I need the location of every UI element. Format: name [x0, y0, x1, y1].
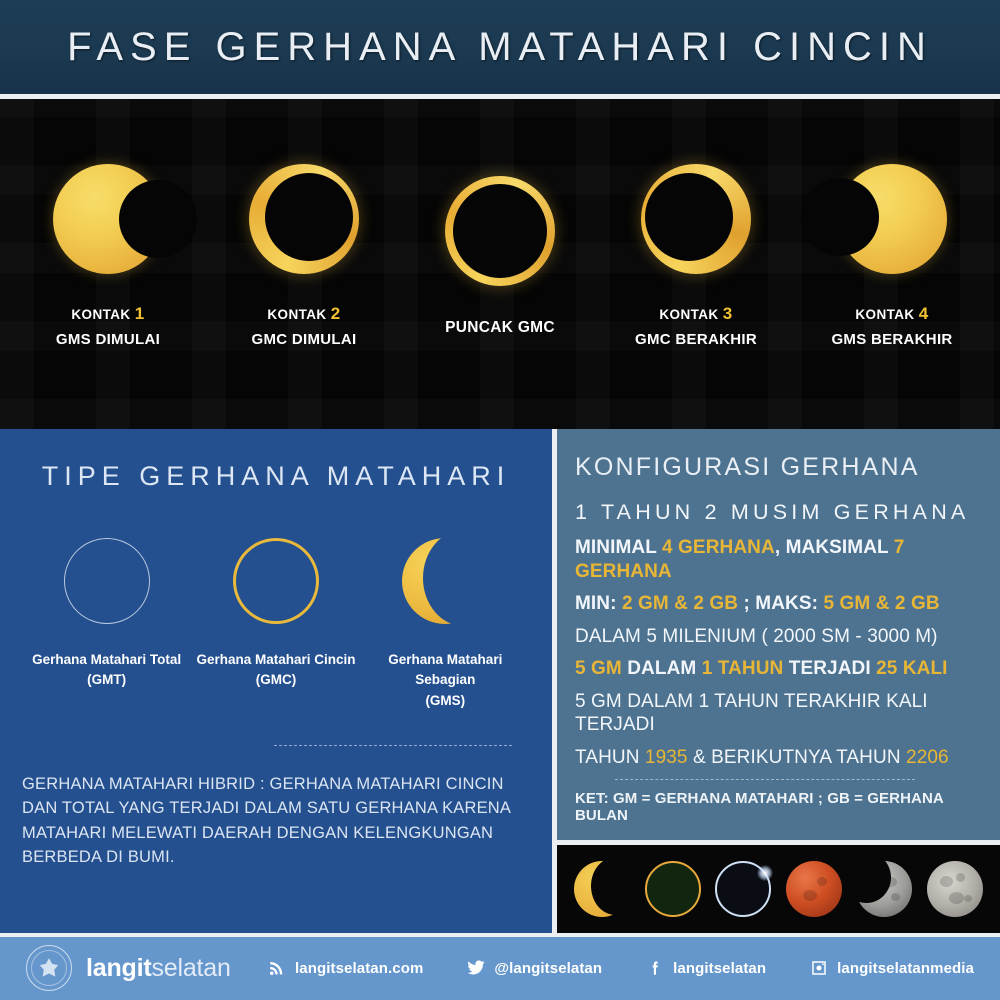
- sun-annular-ring-icon: [641, 164, 751, 274]
- diamond-ring-eclipse-photo: [715, 861, 771, 917]
- social-text: @langitselatan: [494, 960, 602, 977]
- phase-sub-label: PUNCAK GMC: [445, 317, 555, 339]
- phase-kontak-line: KONTAK 2: [252, 302, 357, 326]
- hybrid-eclipse-text: GERHANA MATAHARI HIBRID : GERHANA MATAHA…: [22, 772, 530, 870]
- config-column: KONFIGURASI GERHANA 1 TAHUN 2 MUSIM GERH…: [557, 429, 1000, 932]
- social-text: langitselatan: [673, 960, 766, 977]
- types-row: Gerhana Matahari Total (GMT) Gerhana Mat…: [22, 538, 530, 711]
- phase-kontak-line: KONTAK 1: [56, 302, 160, 326]
- kontak-number: 1: [135, 304, 145, 323]
- kontak-label: KONTAK: [659, 307, 718, 322]
- facebook-icon: [646, 959, 664, 977]
- phase-sub-label: GMC DIMULAI: [252, 329, 357, 350]
- social-text: langitselatanmedia: [837, 960, 974, 977]
- crescent-eclipse-photo: [574, 861, 630, 917]
- instagram-icon: [810, 959, 828, 977]
- phase-item: KONTAK 4 GMS BERAKHIR: [802, 164, 982, 350]
- phase-sub-label: GMC BERAKHIR: [635, 329, 757, 350]
- config-line-5gm: 5 GM DALAM 1 TAHUN TERJADI 25 KALI: [575, 657, 984, 681]
- sun-partial-bite-left-icon: [837, 164, 947, 274]
- type-item-label: Gerhana Matahari Cincin (GMC): [196, 650, 355, 691]
- kontak-label: KONTAK: [71, 307, 130, 322]
- type-item-total: Gerhana Matahari Total (GMT): [24, 538, 189, 691]
- config-line-milenium: DALAM 5 MILENIUM ( 2000 SM - 3000 M): [575, 625, 984, 649]
- phase-item: KONTAK 2 GMC DIMULAI: [214, 164, 394, 350]
- header-bar: FASE GERHANA MATAHARI CINCIN: [0, 0, 1000, 99]
- kontak-label: KONTAK: [267, 307, 326, 322]
- eclipse-phases-section: KONTAK 1 GMS DIMULAI KONTAK 2 GMC DIMULA…: [0, 99, 1000, 429]
- social-link-facebook[interactable]: langitselatan: [646, 959, 766, 977]
- phase-item: KONTAK 1 GMS DIMULAI: [18, 164, 198, 350]
- eclipse-configuration-panel: KONFIGURASI GERHANA 1 TAHUN 2 MUSIM GERH…: [557, 429, 1000, 839]
- page-title: FASE GERHANA MATAHARI CINCIN: [67, 25, 933, 70]
- phase-sub-label: GMS BERAKHIR: [831, 329, 952, 350]
- phase-sub-label: GMS DIMULAI: [56, 329, 160, 350]
- type-item-partial: Gerhana Matahari Sebagian (GMS): [363, 538, 528, 711]
- config-panel-title: KONFIGURASI GERHANA: [575, 453, 984, 482]
- kontak-number: 4: [919, 304, 929, 323]
- type-item-label: Gerhana Matahari Total (GMT): [32, 650, 181, 691]
- social-links: langitselatan.com @langitselatan langits…: [268, 959, 974, 977]
- config-line-last-b: TAHUN 1935 & BERIKUTNYA TAHUN 2206: [575, 746, 984, 770]
- eclipse-partial-crescent-icon: [402, 538, 488, 624]
- sun-partial-bite-right-icon: [53, 164, 163, 274]
- eclipse-annular-ring-icon: [233, 538, 319, 624]
- kontak-label: KONTAK: [855, 307, 914, 322]
- phase-item: KONTAK 3 GMC BERAKHIR: [606, 164, 786, 350]
- social-text: langitselatan.com: [295, 960, 423, 977]
- annular-eclipse-photo: [645, 861, 701, 917]
- config-line-last-a: 5 GM DALAM 1 TAHUN TERAKHIR KALI TERJADI: [575, 690, 984, 737]
- sun-annular-ring-centered-icon: [445, 176, 555, 286]
- phase-item: PUNCAK GMC: [410, 176, 590, 339]
- eclipse-photo-strip: [557, 845, 1000, 933]
- config-line-season: 1 TAHUN 2 MUSIM GERHANA: [575, 500, 984, 525]
- kontak-number: 2: [331, 304, 341, 323]
- lower-section: TIPE GERHANA MATAHARI Gerhana Matahari T…: [0, 429, 1000, 932]
- social-link-instagram[interactable]: langitselatanmedia: [810, 959, 974, 977]
- phase-kontak-line: KONTAK 3: [635, 302, 757, 326]
- config-legend-line: KET: GM = GERHANA MATAHARI ; GB = GERHAN…: [575, 790, 984, 830]
- social-link-twitter[interactable]: @langitselatan: [467, 959, 602, 977]
- kontak-number: 3: [723, 304, 733, 323]
- blood-moon-photo: [786, 861, 842, 917]
- config-line-minmax: MINIMAL 4 GERHANA, MAKSIMAL 7 GERHANA: [575, 536, 984, 583]
- full-moon-photo: [927, 861, 983, 917]
- phase-kontak-line: KONTAK 4: [831, 302, 952, 326]
- rss-icon: [268, 959, 286, 977]
- sun-annular-ring-icon: [249, 164, 359, 274]
- infographic-poster: FASE GERHANA MATAHARI CINCIN KONTAK 1 GM…: [0, 0, 1000, 1000]
- type-item-label: Gerhana Matahari Sebagian (GMS): [363, 650, 528, 711]
- config-line-minmax-counts: MIN: 2 GM & 2 GB ; MAKS: 5 GM & 2 GB: [575, 592, 984, 616]
- dashed-divider: [274, 745, 512, 746]
- social-link-website[interactable]: langitselatan.com: [268, 959, 423, 977]
- dashed-divider: [615, 779, 915, 780]
- eclipse-total-outline-icon: [64, 538, 150, 624]
- twitter-icon: [467, 959, 485, 977]
- langitselatan-seal-icon: [26, 945, 72, 991]
- eclipse-types-panel: TIPE GERHANA MATAHARI Gerhana Matahari T…: [0, 429, 552, 932]
- partial-lunar-eclipse-photo: [856, 861, 912, 917]
- brand-logo[interactable]: langitselatan: [26, 945, 231, 991]
- footer-bar: langitselatan langitselatan.com @langits…: [0, 933, 1000, 1000]
- brand-name: langitselatan: [86, 954, 231, 983]
- type-item-annular: Gerhana Matahari Cincin (GMC): [193, 538, 358, 691]
- types-panel-title: TIPE GERHANA MATAHARI: [22, 461, 530, 492]
